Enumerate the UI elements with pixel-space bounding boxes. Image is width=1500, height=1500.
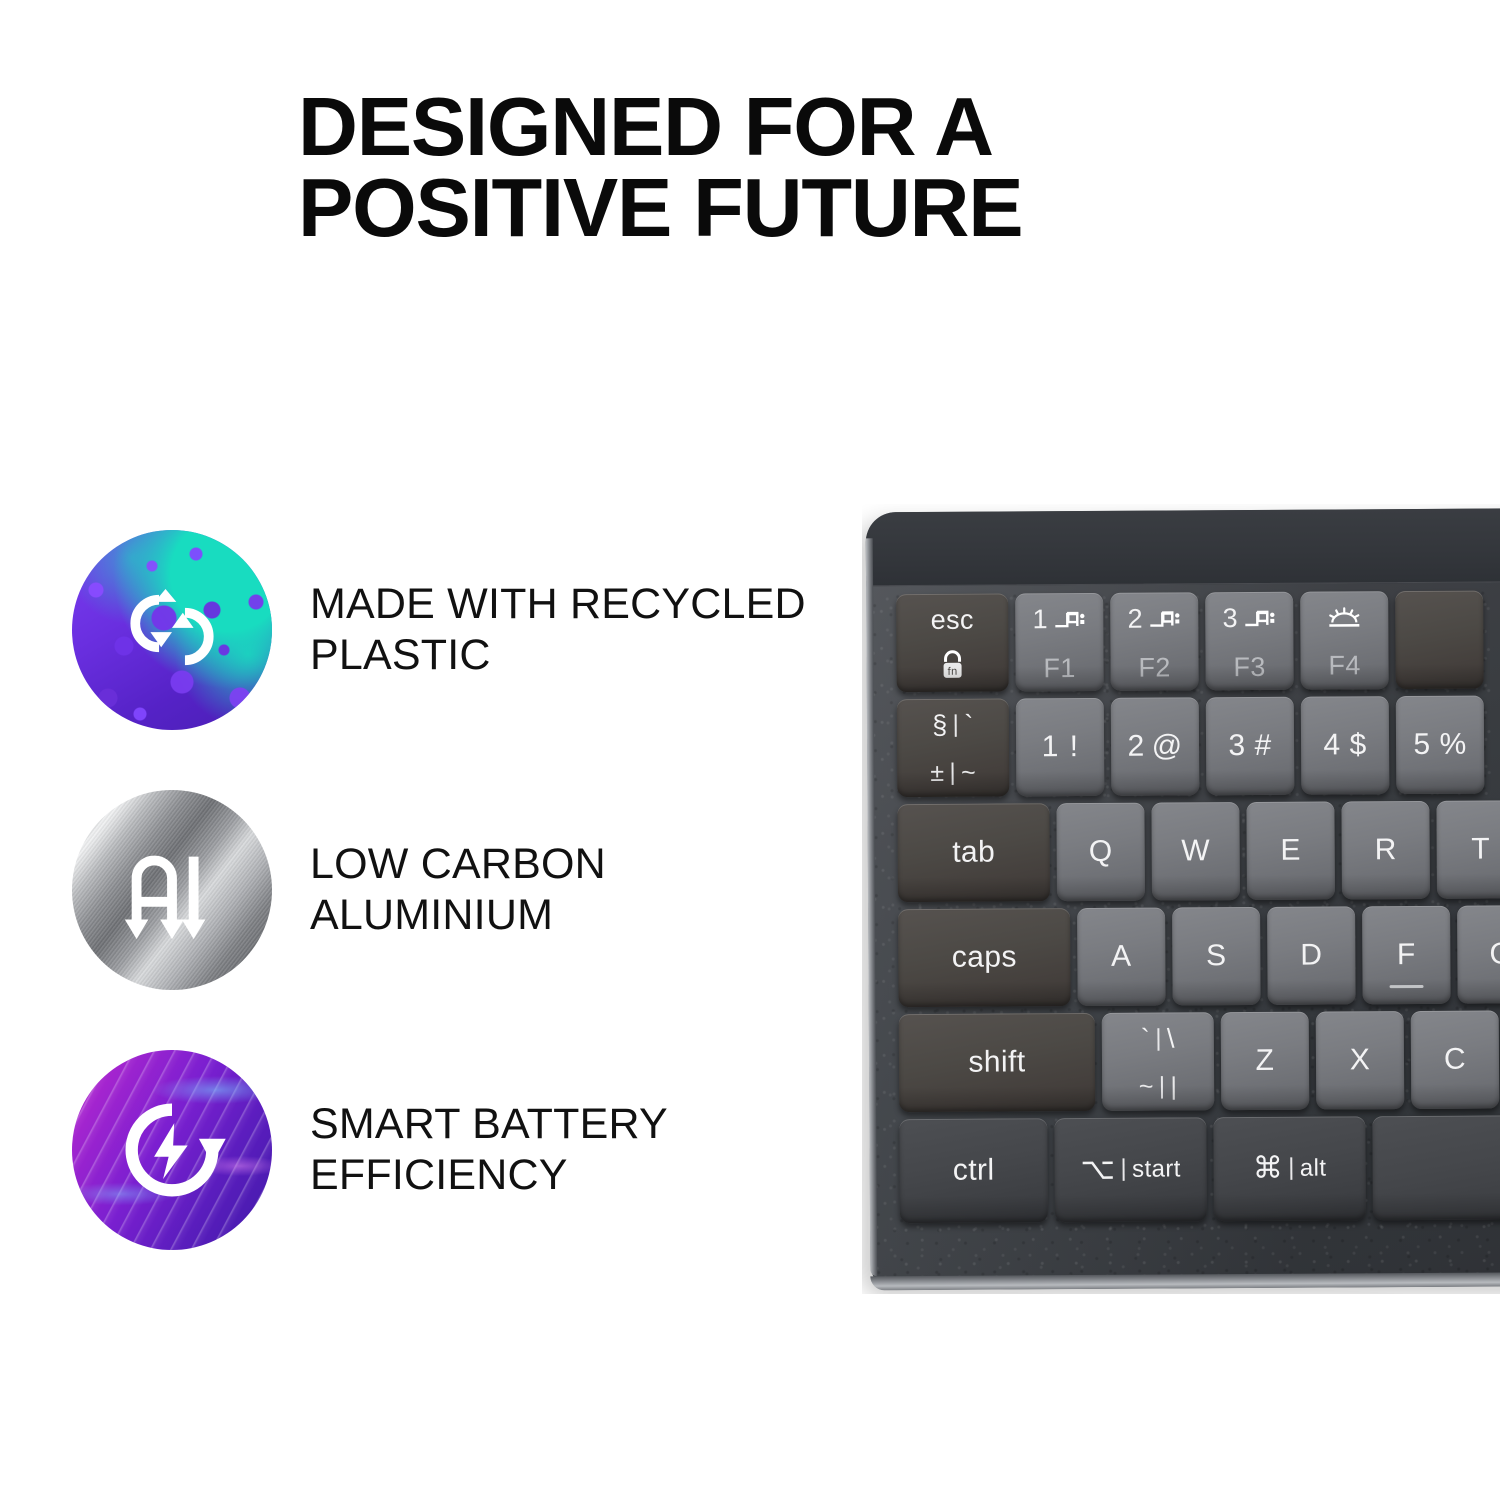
battery-bolt-refresh-icon: [116, 1094, 228, 1206]
key-f[interactable]: F: [1362, 906, 1451, 1005]
feature-label-recycled-plastic: MADE WITH RECYCLED PLASTIC: [310, 579, 806, 680]
command-icon: ⌘: [1253, 1154, 1284, 1184]
key-a[interactable]: A: [1077, 908, 1166, 1007]
keyboard-image: esc fn 1: [862, 504, 1500, 1294]
keyboard-row-number: § | ` ± | ~ 1 !: [897, 695, 1500, 798]
key-space[interactable]: [1372, 1115, 1500, 1220]
key-t-label: T: [1471, 835, 1490, 865]
key-caps[interactable]: caps: [898, 908, 1071, 1007]
key-z[interactable]: Z: [1221, 1012, 1310, 1111]
key-shift[interactable]: shift: [899, 1013, 1096, 1112]
key-digit-5[interactable]: 5 %: [1396, 696, 1485, 795]
key-bar-sym: |: [1170, 1074, 1177, 1099]
key-z-label: Z: [1256, 1046, 1275, 1076]
easy-switch-device-icon: [1242, 606, 1276, 630]
keyboard-top-bezel: [866, 508, 1500, 587]
key-digit-2[interactable]: 2 @: [1111, 697, 1200, 796]
mechanical-keyboard: esc fn 1: [866, 508, 1500, 1291]
feature-label-low-carbon-aluminium: LOW CARBON ALUMINIUM: [310, 839, 606, 940]
easy-switch-device-icon: [1147, 607, 1181, 631]
key-tab-label: tab: [952, 838, 995, 868]
key-f4[interactable]: F4: [1300, 591, 1389, 690]
feature-label-line-2: EFFICIENCY: [310, 1150, 668, 1201]
key-3-number: 3: [1228, 731, 1245, 761]
key-digit-4[interactable]: 4 $: [1301, 696, 1390, 795]
key-divider: |: [948, 712, 965, 736]
key-4-shifted: $: [1349, 730, 1366, 760]
feature-item-recycled-plastic: MADE WITH RECYCLED PLASTIC: [72, 530, 862, 730]
key-f1-label: F1: [1043, 655, 1075, 682]
keyboard-row-home: caps A S D F G: [898, 905, 1500, 1008]
key-f1[interactable]: 1 F1: [1015, 593, 1104, 692]
key-option-start[interactable]: ⌥ | start: [1054, 1117, 1207, 1222]
feature-label-line-1: MADE WITH RECYCLED: [310, 580, 806, 628]
key-f5[interactable]: [1395, 591, 1484, 690]
aluminium-down-arrows-icon: [113, 831, 231, 949]
badge-recycled-plastic: [72, 530, 272, 730]
key-f3[interactable]: 3 F3: [1205, 592, 1294, 691]
fn-lock-icon: fn: [935, 650, 969, 682]
key-5-shifted: %: [1439, 730, 1466, 760]
key-q-label: Q: [1089, 837, 1113, 867]
key-g-label: G: [1489, 939, 1500, 969]
key-section-grave[interactable]: § | ` ± | ~: [897, 698, 1010, 797]
key-start-label: start: [1132, 1157, 1181, 1181]
key-c-label: C: [1444, 1045, 1466, 1075]
homing-bar-icon: [1390, 985, 1424, 988]
key-5-number: 5: [1413, 730, 1430, 760]
keyboard-row-function: esc fn 1: [896, 590, 1500, 693]
key-tilde-sym: ~: [1139, 1075, 1154, 1100]
recycle-arrows-icon: [118, 576, 226, 684]
key-c[interactable]: C: [1411, 1010, 1500, 1109]
headline-line-1: DESIGNED FOR A: [298, 86, 1298, 167]
key-shift-label: shift: [968, 1047, 1025, 1077]
key-x-label: X: [1350, 1045, 1371, 1075]
key-x[interactable]: X: [1316, 1011, 1405, 1110]
keyboard-row-qwerty: tab Q W E R T: [897, 800, 1500, 903]
key-esc[interactable]: esc fn: [896, 593, 1009, 692]
feature-label-line-2: PLASTIC: [310, 630, 806, 681]
key-f-label: F: [1397, 940, 1416, 970]
key-w-label: W: [1181, 836, 1210, 866]
key-s[interactable]: S: [1172, 907, 1261, 1006]
key-f1-number: 1: [1032, 606, 1048, 633]
key-f2-number: 2: [1127, 606, 1143, 633]
key-a-label: A: [1111, 942, 1132, 972]
feature-label-line-1: LOW CARBON: [310, 840, 606, 888]
key-e-label: E: [1280, 836, 1301, 866]
key-divider: |: [1154, 1074, 1171, 1098]
key-3-shifted: #: [1254, 731, 1271, 761]
key-field: esc fn 1: [896, 590, 1500, 1224]
key-command-alt[interactable]: ⌘ | alt: [1213, 1116, 1366, 1221]
key-digit-1[interactable]: 1 !: [1016, 698, 1105, 797]
key-r[interactable]: R: [1341, 801, 1430, 900]
option-icon: ⌥: [1080, 1155, 1115, 1185]
key-alt-label: alt: [1300, 1157, 1327, 1181]
key-f4-label: F4: [1328, 652, 1360, 679]
keyboard-left-edge: [866, 538, 878, 1276]
key-d-label: D: [1300, 941, 1322, 971]
page-title: DESIGNED FOR A POSITIVE FUTURE: [298, 86, 1298, 249]
key-1-shifted: !: [1070, 732, 1079, 762]
key-ctrl[interactable]: ctrl: [899, 1118, 1048, 1223]
key-grave-sym: `: [964, 712, 974, 739]
feature-label-line-2: ALUMINIUM: [310, 890, 606, 941]
key-r-label: R: [1375, 835, 1397, 865]
key-t[interactable]: T: [1436, 800, 1500, 899]
key-divider: |: [944, 760, 961, 784]
feature-item-smart-battery-efficiency: SMART BATTERY EFFICIENCY: [72, 1050, 862, 1250]
key-g[interactable]: G: [1457, 905, 1500, 1004]
key-2-number: 2: [1127, 732, 1144, 762]
svg-text:fn: fn: [948, 666, 958, 678]
key-caps-label: caps: [952, 942, 1017, 972]
key-w[interactable]: W: [1151, 802, 1240, 901]
key-grave-sym: `: [1141, 1026, 1151, 1053]
key-f3-number: 3: [1222, 605, 1238, 632]
key-ctrl-label: ctrl: [953, 1156, 995, 1186]
key-f2[interactable]: 2 F2: [1110, 592, 1199, 691]
feature-list: MADE WITH RECYCLED PLASTIC L: [72, 530, 862, 1250]
keyboard-row-modifier: ctrl ⌥ | start ⌘ | alt: [899, 1115, 1500, 1224]
keyboard-bottom-edge: [870, 1272, 1500, 1291]
key-digit-3[interactable]: 3 #: [1206, 697, 1295, 796]
key-e[interactable]: E: [1246, 801, 1335, 900]
badge-smart-battery-efficiency: [72, 1050, 272, 1250]
key-d[interactable]: D: [1267, 906, 1356, 1005]
key-divider: |: [1150, 1026, 1167, 1050]
key-tilde-sym: ~: [961, 761, 976, 786]
key-1-number: 1: [1042, 732, 1059, 762]
key-plusminus-sym: ±: [930, 761, 944, 786]
key-section-sym: §: [932, 712, 948, 739]
headline-line-2: POSITIVE FUTURE: [298, 167, 1298, 248]
key-q[interactable]: Q: [1056, 803, 1145, 902]
key-divider: |: [1283, 1156, 1300, 1180]
feature-item-low-carbon-aluminium: LOW CARBON ALUMINIUM: [72, 790, 862, 990]
key-divider: |: [1115, 1157, 1132, 1181]
key-2-shifted: @: [1152, 731, 1183, 761]
feature-label-line-1: SMART BATTERY: [310, 1100, 668, 1148]
key-backslash-sym: \: [1167, 1025, 1175, 1052]
easy-switch-device-icon: [1052, 607, 1086, 631]
feature-label-smart-battery-efficiency: SMART BATTERY EFFICIENCY: [310, 1099, 668, 1200]
key-f3-label: F3: [1233, 654, 1265, 681]
key-tab[interactable]: tab: [897, 803, 1050, 902]
key-s-label: S: [1206, 941, 1227, 971]
key-f2-label: F2: [1138, 654, 1170, 681]
key-grave-backslash[interactable]: ` | \ ~ | |: [1102, 1012, 1215, 1111]
badge-low-carbon-aluminium: [72, 790, 272, 990]
key-4-number: 4: [1323, 730, 1340, 760]
key-esc-label: esc: [931, 607, 974, 634]
backlight-brightness-icon: [1323, 606, 1365, 630]
keyboard-row-shift: shift ` | \ ~ | | Z: [899, 1010, 1500, 1113]
